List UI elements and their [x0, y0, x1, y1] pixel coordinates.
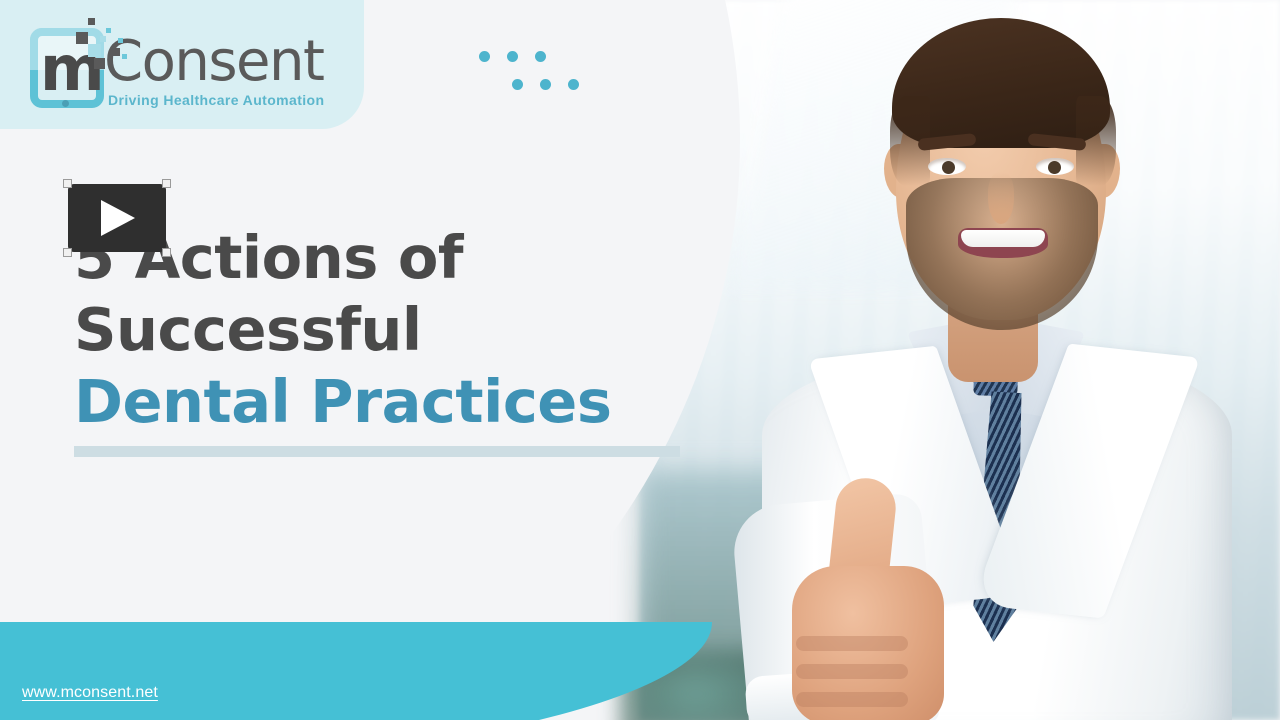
selection-handle-top-left[interactable]	[63, 179, 72, 188]
decor-dot-4	[512, 79, 523, 90]
title-line-3-accent: Dental Practices	[74, 367, 611, 436]
decor-dot-5	[540, 79, 551, 90]
logo-pixel-9	[94, 58, 105, 69]
logo-pixel-2	[106, 28, 111, 33]
website-link[interactable]: www.mconsent.net	[22, 684, 158, 702]
brand-logo: m Consent Driving Healthcare Automation	[26, 14, 326, 114]
footer-bar-fill	[0, 622, 300, 720]
pupil-left	[942, 161, 955, 174]
teeth	[961, 230, 1045, 247]
pupil-right	[1048, 161, 1061, 174]
title-line-2: Successful	[74, 295, 422, 364]
selection-handle-top-right[interactable]	[162, 179, 171, 188]
decor-dot-1	[479, 51, 490, 62]
logo-wordmark: Consent	[104, 32, 323, 92]
logo-pixel-5	[118, 38, 123, 43]
knuckle-line-1	[796, 636, 908, 651]
logo-panel[interactable]: m Consent Driving Healthcare Automation	[0, 0, 364, 129]
logo-tagline: Driving Healthcare Automation	[108, 92, 324, 108]
logo-pixel-6	[88, 44, 101, 57]
logo-pixel-3	[76, 32, 88, 44]
selection-handle-bottom-left[interactable]	[63, 248, 72, 257]
decor-dot-6	[568, 79, 579, 90]
selection-handle-bottom-right[interactable]	[162, 248, 171, 257]
doctor-figure	[700, 0, 1280, 720]
play-icon	[101, 200, 135, 236]
slide-canvas: www.mconsent.net m Consent Driving Healt…	[0, 0, 1280, 720]
play-button-background	[68, 184, 166, 252]
mouth	[958, 228, 1048, 258]
title-underline-rule	[74, 446, 680, 457]
logo-pixel-7	[112, 48, 120, 56]
play-video-button[interactable]	[68, 184, 166, 252]
knuckle-line-2	[796, 664, 908, 679]
logo-pixel-1	[88, 18, 95, 25]
logo-pixel-8	[122, 54, 127, 59]
knuckle-line-3	[796, 692, 908, 707]
logo-pixel-4	[100, 36, 106, 42]
decor-dot-2	[507, 51, 518, 62]
decor-dot-3	[535, 51, 546, 62]
nose	[988, 172, 1014, 224]
